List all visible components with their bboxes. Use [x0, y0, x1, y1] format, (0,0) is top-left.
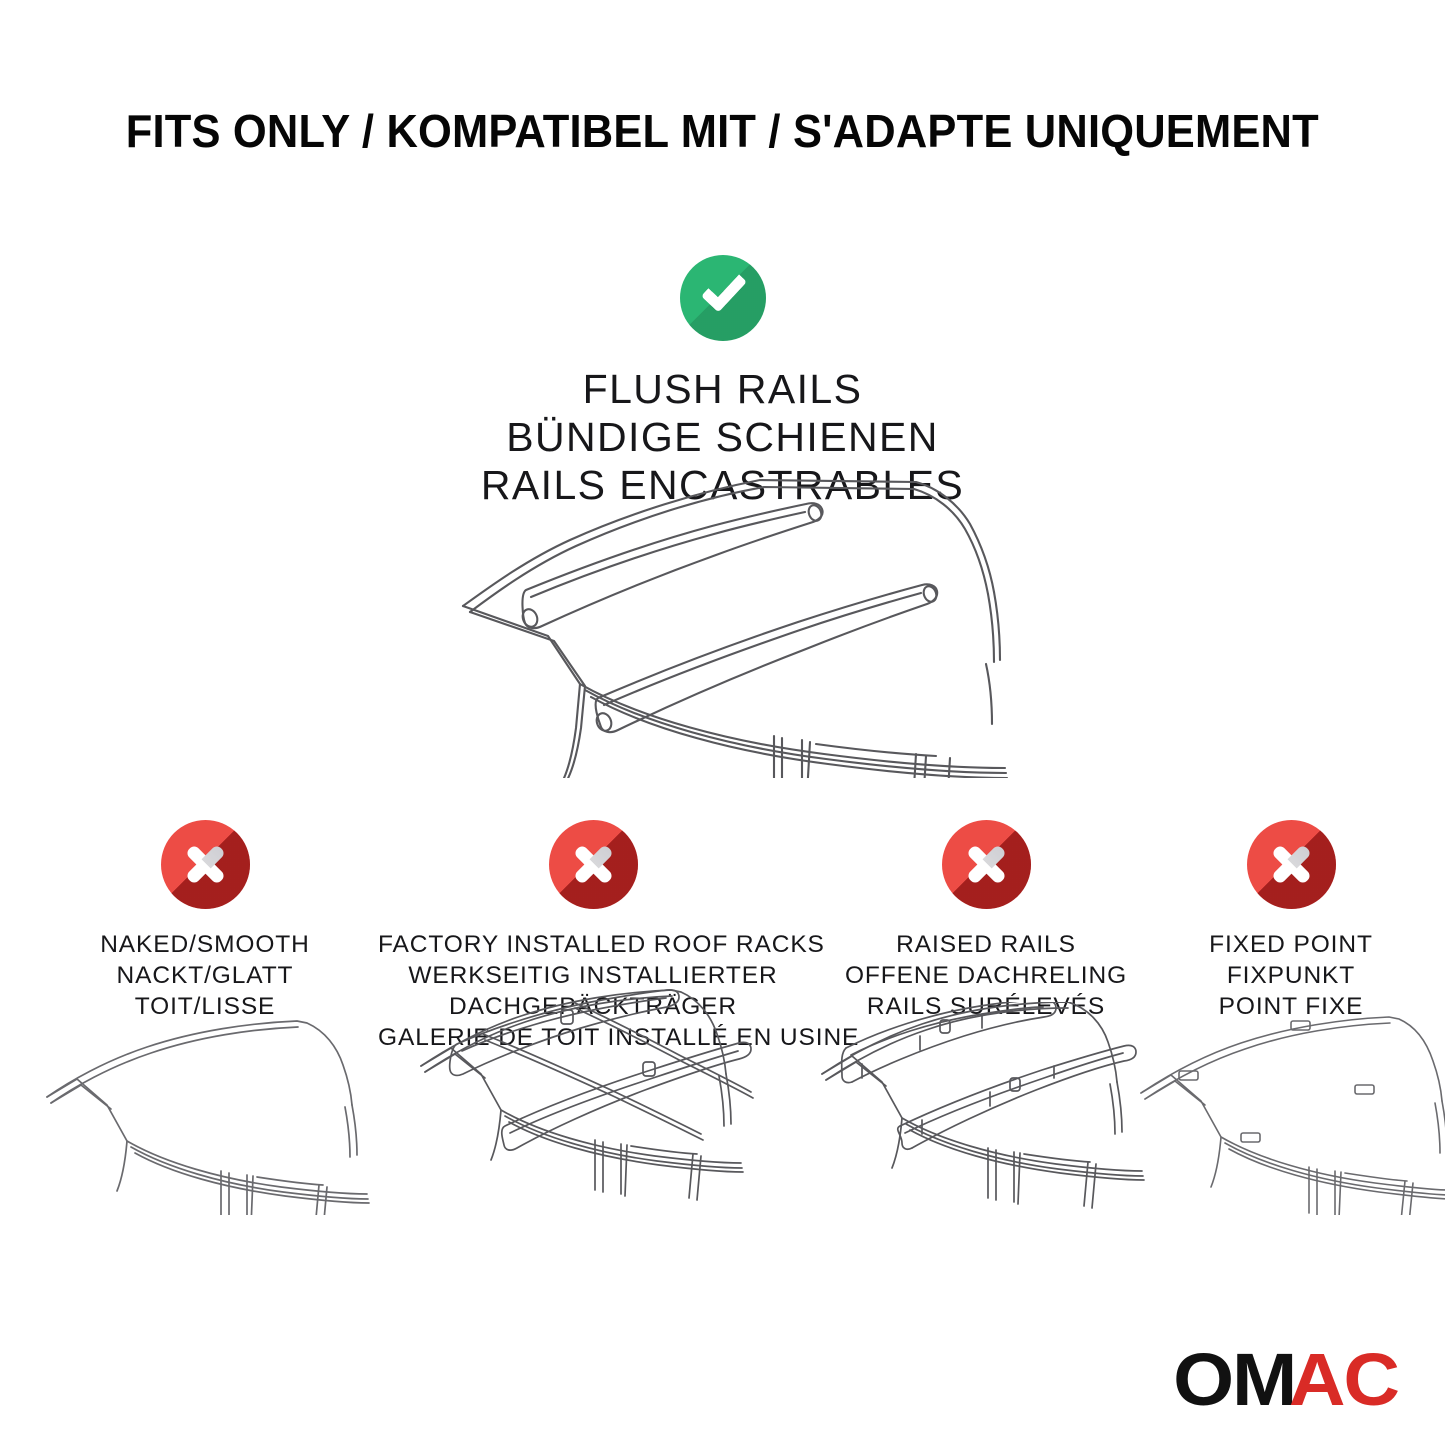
car-roof-fixed-point-illustration: [1131, 1015, 1445, 1220]
compatible-label-de: BÜNDIGE SCHIENEN: [0, 414, 1445, 462]
check-circle-icon: [680, 255, 766, 341]
label-en: FIXED POINT: [1155, 930, 1427, 961]
car-roof-factory-installed-roof-racks-illustration: [413, 988, 773, 1223]
car-roof-naked-smooth-illustration: [35, 1015, 375, 1220]
label-de: NACKT/GLATT: [35, 961, 375, 992]
label-de: FIXPUNKT: [1155, 961, 1427, 992]
incompatible-item-raised-rails: RAISED RAILS OFFENE DACHRELING RAILS SUR…: [812, 820, 1160, 1023]
x-glyph: [549, 820, 638, 909]
x-glyph: [161, 820, 250, 909]
x-circle-icon: [942, 820, 1031, 909]
incompatible-item-naked-smooth: NAKED/SMOOTH NACKT/GLATT TOIT/LISSE: [35, 820, 375, 1023]
x-circle-icon: [161, 820, 250, 909]
x-glyph: [942, 820, 1031, 909]
page-title: FITS ONLY / KOMPATIBEL MIT / S'ADAPTE UN…: [126, 104, 1319, 158]
omac-logo: OMAC: [1180, 1343, 1398, 1417]
incompatible-labels-naked-smooth: NAKED/SMOOTH NACKT/GLATT TOIT/LISSE: [35, 930, 375, 1023]
label-de: OFFENE DACHRELING: [812, 961, 1160, 992]
x-circle-icon: [549, 820, 638, 909]
car-roof-with-flush-rails-illustration: [430, 468, 1030, 778]
car-roof-raised-rails-illustration: [812, 1002, 1160, 1222]
omac-logo-om: OM: [1173, 1343, 1295, 1417]
incompatible-section: NAKED/SMOOTH NACKT/GLATT TOIT/LISSE: [0, 820, 1445, 1260]
label-en: RAISED RAILS: [812, 930, 1160, 961]
omac-logo-ac: AC: [1289, 1343, 1398, 1417]
title-bar: FITS ONLY / KOMPATIBEL MIT / S'ADAPTE UN…: [0, 104, 1445, 158]
x-glyph: [1247, 820, 1336, 909]
label-en: NAKED/SMOOTH: [35, 930, 375, 961]
incompatible-item-fixed-point: FIXED POINT FIXPUNKT POINT FIXE: [1155, 820, 1427, 1023]
x-circle-icon: [1247, 820, 1336, 909]
label-en: FACTORY INSTALLED ROOF RACKS: [378, 930, 808, 961]
incompatible-labels-fixed-point: FIXED POINT FIXPUNKT POINT FIXE: [1155, 930, 1427, 1023]
compatible-label-en: FLUSH RAILS: [0, 366, 1445, 414]
incompatible-item-factory-roof-racks: FACTORY INSTALLED ROOF RACKS WERKSEITIG …: [378, 820, 808, 1053]
